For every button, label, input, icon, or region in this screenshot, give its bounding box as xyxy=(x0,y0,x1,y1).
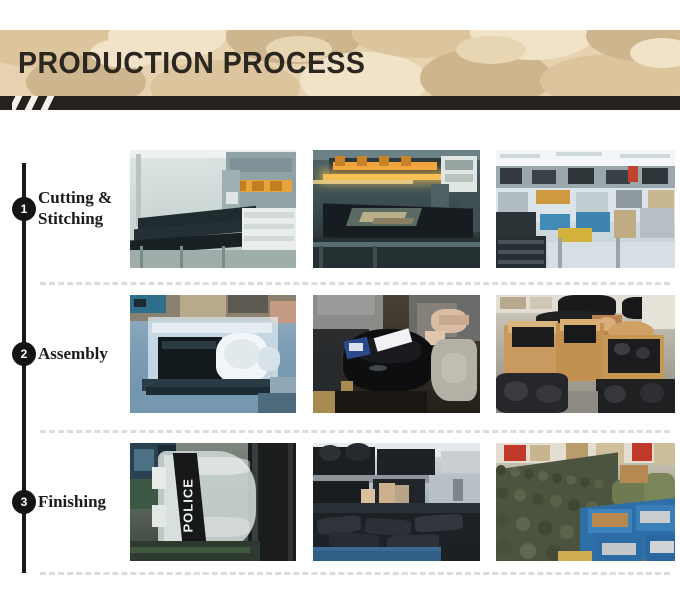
diagonal-stripes-icon xyxy=(12,96,68,110)
row-divider xyxy=(40,572,670,575)
step-image-gallery: POLICE xyxy=(130,443,675,561)
sewing-floor-photo[interactable] xyxy=(496,150,675,268)
heating-press-photo[interactable] xyxy=(313,150,480,268)
step-number-badge: 1 xyxy=(12,197,36,221)
parts-boxes-photo[interactable] xyxy=(496,295,675,413)
banner-accent-bar xyxy=(0,96,680,110)
process-step-row: 1 Cutting & Stitching xyxy=(0,150,680,268)
step-number-badge: 2 xyxy=(12,342,36,366)
page-title: PRODUCTION PROCESS xyxy=(18,30,365,96)
visor-shields-photo[interactable] xyxy=(130,295,296,413)
packing-tables-photo[interactable] xyxy=(313,443,480,561)
wrapped-shield-photo[interactable]: POLICE xyxy=(130,443,296,561)
row-divider xyxy=(40,430,670,433)
step-image-gallery xyxy=(130,295,675,413)
process-step-row: 2 Assembly xyxy=(0,295,680,413)
step-image-gallery xyxy=(130,150,675,268)
page-header-banner: PRODUCTION PROCESS xyxy=(0,30,680,96)
process-step-row: 3 Finishing xyxy=(0,443,680,561)
helmet-stock-photo[interactable] xyxy=(496,443,675,561)
step-label: Assembly xyxy=(38,343,126,364)
step-number-badge: 3 xyxy=(12,490,36,514)
process-steps-section: 1 Cutting & Stitching xyxy=(0,110,680,607)
cutting-machine-photo[interactable] xyxy=(130,150,296,268)
police-helmet-assembly-photo[interactable] xyxy=(313,295,480,413)
step-label: Cutting & Stitching xyxy=(38,187,126,229)
row-divider xyxy=(40,282,670,285)
step-label: Finishing xyxy=(38,491,126,512)
